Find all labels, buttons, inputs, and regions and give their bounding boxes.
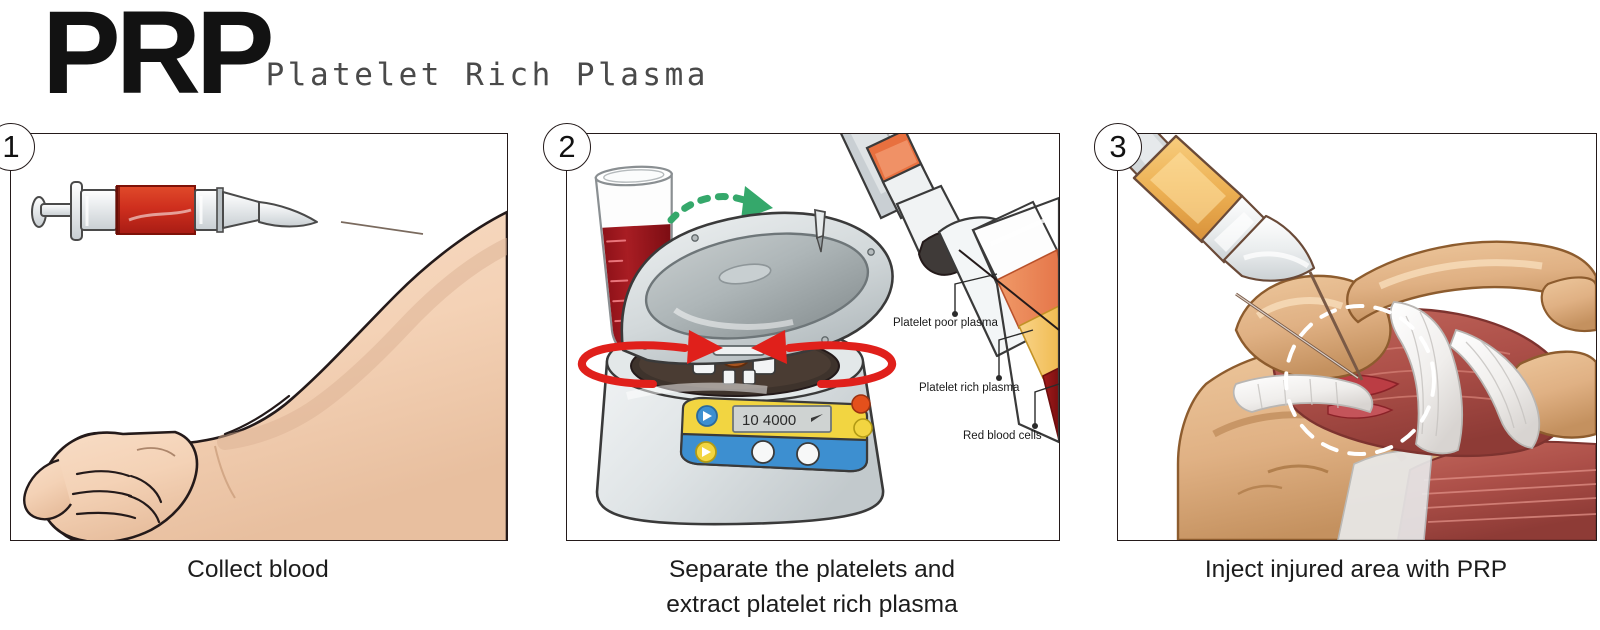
caption-panel-2: Separate the platelets and extract plate… — [566, 552, 1058, 622]
panel-separate-platelets: 10 4000 — [566, 133, 1060, 541]
needle-line — [341, 222, 423, 234]
title-subtitle: Platelet Rich Plasma — [266, 60, 709, 91]
caption-panel-2-line-1: Separate the platelets and — [566, 552, 1058, 587]
page-title: PRP Platelet Rich Plasma — [42, 0, 709, 112]
illustration-arm-syringe — [11, 134, 507, 540]
illustration-centrifuge: 10 4000 — [567, 134, 1059, 540]
caption-panel-3: Inject injured area with PRP — [1117, 552, 1595, 587]
annotation-platelet-poor-plasma: Platelet poor plasma — [893, 317, 998, 329]
title-main: PRP — [42, 0, 270, 112]
annotation-red-blood-cells: Red blood cells — [963, 430, 1042, 442]
caption-panel-2-line-2: extract platelet rich plasma — [566, 587, 1058, 622]
illustration-shoulder-injection — [1118, 134, 1596, 540]
panel-number-2: 2 — [543, 123, 591, 171]
panel-inject-prp — [1117, 133, 1597, 541]
centrifuge-display-text: 10 4000 — [742, 412, 796, 429]
caption-panel-1: Collect blood — [10, 552, 506, 587]
panel-number-3: 3 — [1094, 123, 1142, 171]
centrifuge-svg: 10 4000 — [567, 134, 1059, 540]
infographic-root: PRP Platelet Rich Plasma — [0, 0, 1600, 630]
annotation-platelet-rich-plasma: Platelet rich plasma — [919, 382, 1019, 394]
shoulder-injection-svg — [1118, 134, 1596, 540]
syringe-blood-filled — [32, 182, 317, 240]
arm-syringe-svg — [11, 134, 507, 540]
panel-collect-blood — [10, 133, 508, 541]
centrifuge-control-panel: 10 4000 — [681, 395, 872, 471]
